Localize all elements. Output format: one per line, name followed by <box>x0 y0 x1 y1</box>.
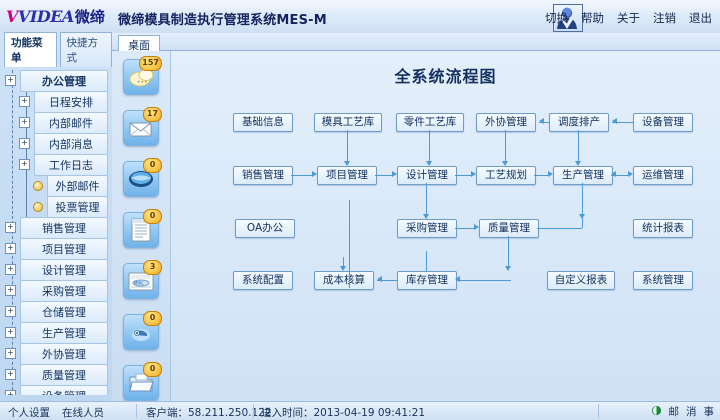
sidebar-tree: +办公管理+日程安排+内部邮件+内部消息+工作日志外部邮件投票管理+销售管理+项… <box>3 70 108 395</box>
network-icon[interactable] <box>651 405 662 419</box>
sidebar-tree-item[interactable]: +办公管理 <box>3 70 108 91</box>
sidebar-tree-item[interactable]: +采购管理 <box>3 280 108 301</box>
flowchart-connector <box>457 280 511 281</box>
sidebar-tree-item-label[interactable]: 质量管理 <box>20 364 108 386</box>
tree-expand-icon[interactable]: + <box>5 222 16 233</box>
sidebar-tree-item-label[interactable]: 工作日志 <box>34 154 108 176</box>
sidebar: « + − 功能菜单 快捷方式 +办公管理+日程安排+内部邮件+内部消息+工作日… <box>0 33 113 402</box>
flowchart-node[interactable]: 自定义报表 <box>547 271 615 290</box>
tab-function-menu[interactable]: 功能菜单 <box>4 32 57 67</box>
flowchart-connector <box>582 193 583 228</box>
tree-leaf-icon[interactable] <box>33 181 43 191</box>
flowchart-arrowhead <box>340 266 346 271</box>
menu-item-exit[interactable]: 退出 <box>689 10 712 26</box>
sidebar-tree-item-label[interactable]: 内部邮件 <box>34 112 108 134</box>
flowchart-connector <box>426 251 427 271</box>
tree-expand-icon[interactable]: + <box>19 117 30 128</box>
badge-count: 17 <box>143 107 162 122</box>
status-divider-3 <box>598 404 599 418</box>
flowchart-node[interactable]: 模具工艺库 <box>314 113 382 132</box>
menu-item-about[interactable]: 关于 <box>617 10 640 26</box>
svg-text:•••: ••• <box>137 79 148 86</box>
menu-item-logout[interactable]: 注销 <box>653 10 676 26</box>
sidebar-tree-item[interactable]: +内部消息 <box>3 133 108 154</box>
logo-wordmark: VVIDEA <box>6 7 74 26</box>
flowchart-connector <box>505 130 506 161</box>
flowchart-arrowhead <box>612 118 617 124</box>
flowchart-node[interactable]: 系统配置 <box>233 271 293 290</box>
task-tray-icon[interactable]: 事 <box>704 404 715 419</box>
sidebar-tree-item[interactable]: +质量管理 <box>3 364 108 385</box>
status-online-users[interactable]: 在线人员 <box>62 405 104 420</box>
sidebar-tree-item-label[interactable]: 项目管理 <box>20 238 108 260</box>
sidebar-tree-item-label[interactable]: 销售管理 <box>20 217 108 239</box>
status-divider-1 <box>136 404 137 418</box>
flowchart-node[interactable]: 成本核算 <box>314 271 374 290</box>
flowchart-node[interactable]: 库存管理 <box>397 271 457 290</box>
menu-item-switch[interactable]: 切换 <box>545 10 568 26</box>
flowchart-arrowhead <box>539 118 544 124</box>
flowchart-node[interactable]: 系统管理 <box>633 271 693 290</box>
sidebar-tree-item[interactable]: 外部邮件 <box>3 175 108 196</box>
header-menu: 切换 帮助 关于 注销 退出 <box>545 10 712 26</box>
app-logo: VVIDEA 微缔 <box>6 6 105 27</box>
flowchart-node[interactable]: 调度排产 <box>549 113 609 132</box>
flowchart-node[interactable]: 项目管理 <box>317 166 377 185</box>
workspace: •••1571700MAIL300 全系统流程图 基础信息模具工艺库零件工艺库外… <box>112 51 720 403</box>
flowchart-connector <box>375 175 392 176</box>
flowchart-arrowhead <box>377 276 382 282</box>
flowchart-connector <box>534 175 548 176</box>
tree-expand-icon[interactable]: + <box>19 159 30 170</box>
shortcut-icon-column: •••1571700MAIL300 <box>112 51 171 403</box>
badge-count: 157 <box>139 56 162 71</box>
sidebar-tree-item-label[interactable]: 采购管理 <box>20 280 108 302</box>
sidebar-tree-item[interactable]: +生产管理 <box>3 322 108 343</box>
tree-expand-icon[interactable]: + <box>5 285 16 296</box>
flowchart-divider <box>349 200 350 288</box>
sidebar-tree-item-label[interactable]: 生产管理 <box>20 322 108 344</box>
tree-expand-icon[interactable]: + <box>5 75 16 86</box>
worklog-icon[interactable]: 0 <box>123 212 159 248</box>
mail-icon[interactable]: 17 <box>123 110 159 146</box>
badge-count: 3 <box>143 260 162 275</box>
flowchart-node[interactable]: 设备管理 <box>633 113 693 132</box>
tree-expand-icon[interactable]: + <box>5 390 16 395</box>
app-header: VVIDEA 微缔 微缔模具制造执行管理系统MES-M 切换 帮助 关于 注销 … <box>0 0 720 34</box>
status-tray: 邮 消 事 <box>651 404 715 419</box>
flowchart-arrowhead <box>628 171 633 177</box>
sidebar-tree-item[interactable]: +设备管理 <box>3 385 108 395</box>
document-icon[interactable]: 0 <box>123 365 159 401</box>
flowchart-connector <box>537 228 582 229</box>
sidebar-tree-item-label[interactable]: 仓储管理 <box>20 301 108 323</box>
flowchart-arrowhead <box>312 171 317 177</box>
flowchart-arrowhead <box>344 161 350 166</box>
sidebar-tree-item[interactable]: +项目管理 <box>3 238 108 259</box>
mail-tray-icon[interactable]: 邮 <box>669 404 680 419</box>
tree-expand-icon[interactable]: + <box>5 369 16 380</box>
sidebar-tree-item-label[interactable]: 外协管理 <box>20 343 108 365</box>
approval-icon[interactable]: 0 <box>123 314 159 350</box>
flowchart-arrowhead <box>423 214 429 219</box>
tree-expand-icon[interactable]: + <box>5 264 16 275</box>
tree-expand-icon[interactable]: + <box>19 138 30 149</box>
flowchart-connector <box>343 257 344 266</box>
flowchart-arrowhead <box>426 161 432 166</box>
sidebar-tree-item[interactable]: +仓储管理 <box>3 301 108 322</box>
flowchart-connector <box>455 228 474 229</box>
status-personal-settings[interactable]: 个人设置 <box>8 405 50 420</box>
flowchart-node[interactable]: 基础信息 <box>233 113 293 132</box>
status-bar: 个人设置 在线人员 客户端：58.211.250.122 进入时间：2013-0… <box>0 401 720 420</box>
flowchart-node[interactable]: 生产管理 <box>553 166 613 185</box>
flowchart-title: 全系统流程图 <box>171 63 720 87</box>
flowchart-connector <box>291 175 312 176</box>
flowchart-arrowhead <box>392 171 397 177</box>
badge-count: 0 <box>143 209 162 224</box>
flowchart-arrowhead <box>548 171 553 177</box>
sidebar-tree-item[interactable]: +内部邮件 <box>3 112 108 133</box>
sidebar-tree-item-label[interactable]: 投票管理 <box>47 196 108 218</box>
sidebar-tree-item-label[interactable]: 内部消息 <box>34 133 108 155</box>
tree-leaf-icon[interactable] <box>33 202 43 212</box>
sidebar-tree-item[interactable]: 投票管理 <box>3 196 108 217</box>
flowchart-node[interactable]: 统计报表 <box>633 219 693 238</box>
badge-count: 0 <box>143 158 162 173</box>
main-area: 桌面 •••1571700MAIL300 全系统流程图 基础信息模具工艺库零件工… <box>112 33 720 402</box>
flowchart-node[interactable]: 零件工艺库 <box>396 113 464 132</box>
application-window: VVIDEA 微缔 微缔模具制造执行管理系统MES-M 切换 帮助 关于 注销 … <box>0 0 720 420</box>
flowchart-node[interactable]: 设计管理 <box>397 166 457 185</box>
sidebar-tree-item-label[interactable]: 日程安排 <box>34 91 108 113</box>
message-tray-icon[interactable]: 消 <box>686 404 697 419</box>
status-login-time: 进入时间：2013-04-19 09:41:21 <box>261 405 425 420</box>
flowchart-connector <box>426 183 427 214</box>
badge-count: 0 <box>143 311 162 326</box>
svg-text:MAIL: MAIL <box>134 281 144 286</box>
sidebar-tree-item[interactable]: +工作日志 <box>3 154 108 175</box>
menu-item-help[interactable]: 帮助 <box>581 10 604 26</box>
sidebar-tree-item[interactable]: +销售管理 <box>3 217 108 238</box>
flowchart-connector <box>455 175 471 176</box>
page-title: 微缔模具制造执行管理系统MES-M <box>118 9 327 28</box>
flowchart-arrowhead <box>611 171 616 177</box>
schedule-icon[interactable]: •••157 <box>123 59 159 95</box>
sidebar-tree-item[interactable]: +设计管理 <box>3 259 108 280</box>
sidebar-tree-item-label[interactable]: 外部邮件 <box>47 175 108 197</box>
logo-chinese-text: 微缔 <box>75 6 105 27</box>
sidebar-tree-item[interactable]: +外协管理 <box>3 343 108 364</box>
tab-shortcuts[interactable]: 快捷方式 <box>60 32 113 67</box>
flowchart-arrowhead <box>474 224 479 230</box>
badge-count: 0 <box>143 362 162 377</box>
flowchart-arrowhead <box>455 276 460 282</box>
tree-expand-icon[interactable]: + <box>5 348 16 359</box>
flowchart-connector <box>347 130 348 161</box>
tree-expand-icon[interactable]: + <box>19 96 30 107</box>
sidebar-tabs: 功能菜单 快捷方式 <box>0 49 112 67</box>
flowchart-node[interactable]: 销售管理 <box>233 166 293 185</box>
flowchart-node[interactable]: 采购管理 <box>397 219 457 238</box>
tree-expand-icon[interactable]: + <box>5 327 16 338</box>
flowchart-node[interactable]: 运维管理 <box>633 166 693 185</box>
flowchart-arrowhead <box>471 171 476 177</box>
sidebar-tree-item-label[interactable]: 办公管理 <box>20 70 108 92</box>
flowchart-arrowhead <box>505 266 511 271</box>
flowchart-connector <box>429 130 430 161</box>
workspace-tabbar: 桌面 <box>112 33 720 51</box>
flowchart-canvas: 全系统流程图 基础信息模具工艺库零件工艺库外协管理调度排产设备管理销售管理项目管… <box>171 51 720 403</box>
flowchart-node[interactable]: 外协管理 <box>476 113 536 132</box>
message-icon[interactable]: 0 <box>123 161 159 197</box>
sidebar-tree-item[interactable]: +日程安排 <box>3 91 108 112</box>
sidebar-tree-item-label[interactable]: 设计管理 <box>20 259 108 281</box>
logo-wordmark-text: VIDEA <box>18 7 74 26</box>
flowchart-connector <box>578 130 579 161</box>
tree-expand-icon[interactable]: + <box>5 243 16 254</box>
flowchart-connector <box>508 236 509 266</box>
flowchart-node[interactable]: 工艺规划 <box>476 166 536 185</box>
notice-icon[interactable]: MAIL3 <box>123 263 159 299</box>
tree-expand-icon[interactable]: + <box>5 306 16 317</box>
flowchart-node[interactable]: OA办公 <box>235 219 295 238</box>
flowchart-arrowhead <box>502 161 508 166</box>
flowchart-node[interactable]: 质量管理 <box>479 219 539 238</box>
flowchart-arrowhead <box>575 161 581 166</box>
sidebar-tree-item-label[interactable]: 设备管理 <box>20 385 108 396</box>
status-divider-2 <box>253 404 254 418</box>
